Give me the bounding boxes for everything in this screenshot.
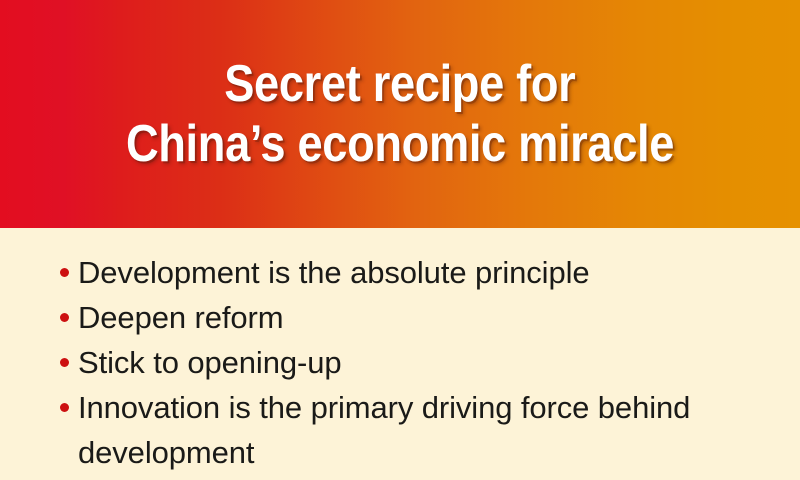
poster-graphic: Secret recipe for China’s economic mirac… xyxy=(0,0,800,480)
bullet-dot-icon xyxy=(60,313,69,322)
list-item: Development is the absolute principle xyxy=(0,250,800,295)
list-item: Stick to opening-up xyxy=(0,340,800,385)
header-banner: Secret recipe for China’s economic mirac… xyxy=(0,0,800,228)
list-item-label: Stick to opening-up xyxy=(78,345,342,380)
bullet-dot-icon xyxy=(60,358,69,367)
list-item: Innovation is the primary driving force … xyxy=(0,385,800,475)
list-item-label-continuation: development xyxy=(78,435,254,470)
list-item: Deepen reform xyxy=(0,295,800,340)
page-title-line-1: Secret recipe for xyxy=(224,55,575,113)
list-item-label: Development is the absolute principle xyxy=(78,255,590,290)
page-title-line-2: China’s economic miracle xyxy=(126,115,674,173)
bullet-dot-icon xyxy=(60,403,69,412)
list-item-label: Deepen reform xyxy=(78,300,283,335)
list-item-label: Innovation is the primary driving force … xyxy=(78,390,690,425)
bullet-dot-icon xyxy=(60,268,69,277)
content-area: Development is the absolute principle De… xyxy=(0,228,800,480)
key-points-list: Development is the absolute principle De… xyxy=(0,228,800,475)
